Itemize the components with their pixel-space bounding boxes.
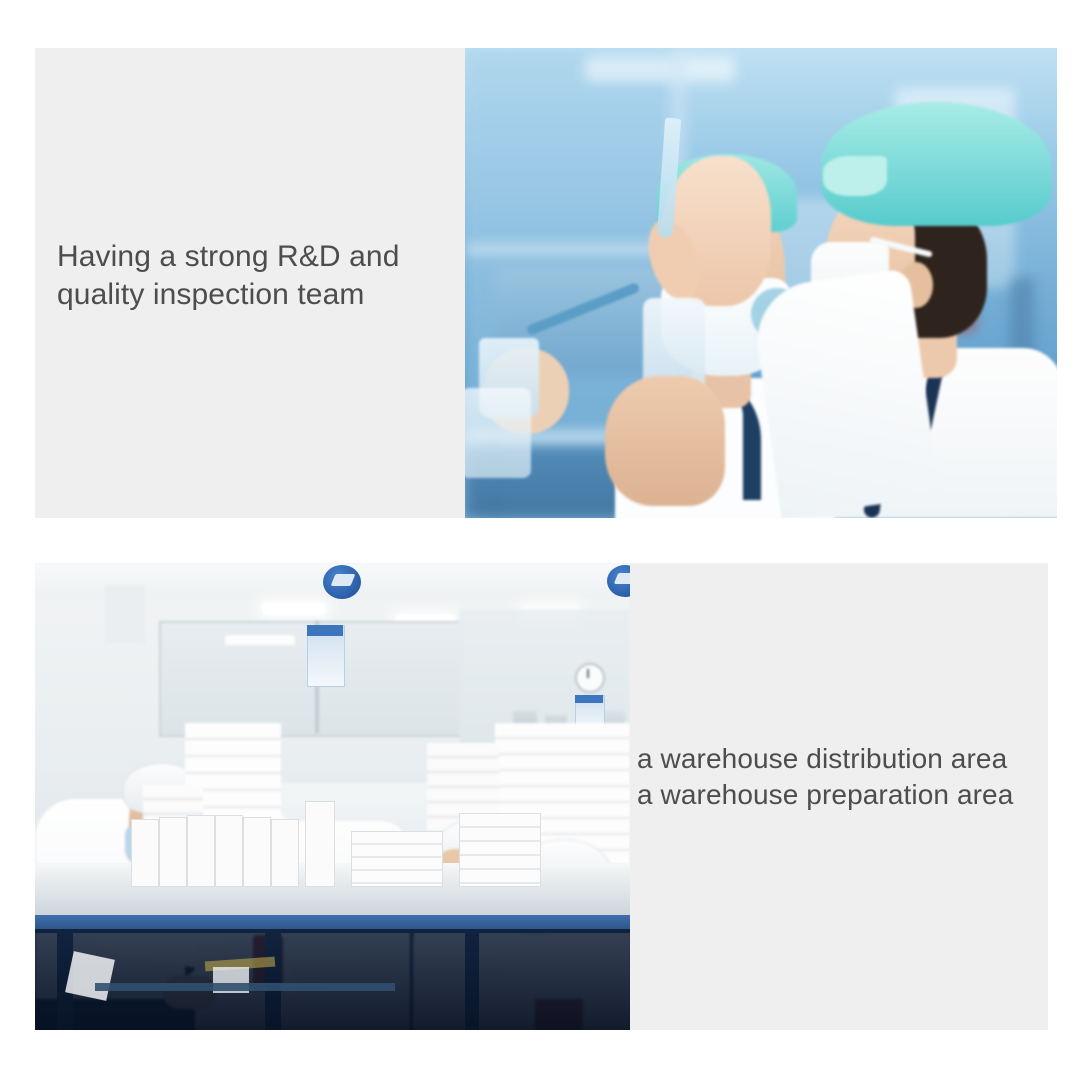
rd-quality-inspection-lab-photo	[465, 48, 1057, 518]
table-cross-brace	[95, 983, 395, 991]
ceiling-duct	[105, 585, 145, 643]
warehouse-packing-cleanroom-photo	[35, 563, 630, 1030]
wall-clock	[575, 663, 605, 693]
carton-flat-stack	[351, 831, 443, 887]
carton-5	[243, 817, 271, 887]
technician-right-hairnet-fold	[823, 156, 887, 196]
lab-ceiling-light	[585, 56, 735, 82]
raised-arm-sleeve	[750, 268, 940, 518]
window-inner-light	[225, 635, 295, 645]
carton-6	[271, 819, 299, 887]
second-hand-lower	[605, 376, 725, 506]
carton-1	[131, 819, 159, 887]
carton-2	[159, 817, 187, 887]
top-caption-panel: Having a strong R&D and quality inspecti…	[35, 48, 465, 518]
top-section: Having a strong R&D and quality inspecti…	[0, 0, 1080, 540]
wall-placard-right-header	[575, 695, 603, 703]
carton-4	[215, 815, 243, 887]
bottom-section: a warehouse distribution area a warehous…	[0, 540, 1080, 1080]
wall-clock-hand	[587, 669, 589, 678]
glass-beaker-foreground	[465, 388, 531, 478]
carton-right-stack	[459, 813, 541, 887]
carton-tall-center	[305, 801, 335, 887]
table-under-shadow	[35, 929, 630, 1030]
blue-circular-sign-right-glyph	[614, 573, 630, 584]
under-table-paper	[65, 951, 115, 1001]
ceiling-light-1	[263, 603, 325, 615]
carton-3	[187, 815, 215, 887]
wall-placard-left-header	[307, 625, 343, 636]
bottom-caption-panel: a warehouse distribution area a warehous…	[630, 563, 1048, 1030]
top-caption-text: Having a strong R&D and quality inspecti…	[57, 238, 453, 314]
bottom-caption-text: a warehouse distribution area a warehous…	[637, 741, 1047, 813]
